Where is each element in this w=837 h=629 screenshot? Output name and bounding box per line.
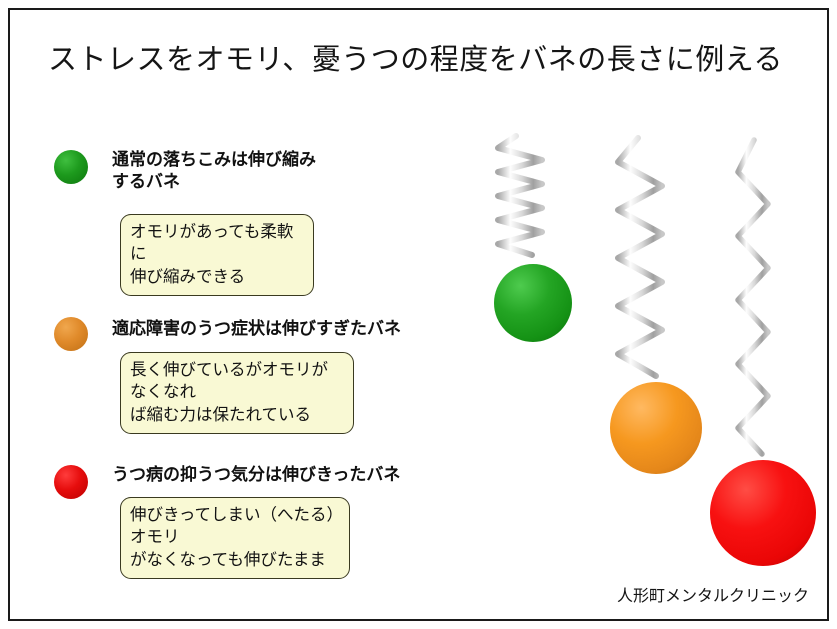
bullet-dot-orange [54, 317, 88, 351]
weight-ball-red [710, 460, 816, 566]
slide-canvas: ストレスをオモリ、憂うつの程度をバネの長さに例える 通常の落ちこみは伸び縮み す… [8, 8, 829, 621]
item-major-depression: うつ病の抑うつ気分は伸びきったバネ 伸びきってしまい（へたる）オモリ がなくなっ… [10, 10, 480, 150]
spring-group-green [480, 114, 590, 314]
item-heading: 通常の落ちこみは伸び縮み するバネ [112, 149, 412, 194]
weight-ball-orange [610, 382, 702, 474]
item-heading: 適応障害のうつ症状は伸びすぎたバネ [112, 318, 452, 340]
item-callout: オモリがあっても柔軟に 伸び縮みできる [120, 214, 314, 296]
spring-group-red [710, 114, 830, 579]
item-callout: 伸びきってしまい（へたる）オモリ がなくなっても伸びたまま [120, 497, 350, 579]
item-callout: 長く伸びているがオモリがなくなれ ば縮む力は保たれている [120, 352, 354, 434]
clinic-name-footer: 人形町メンタルクリニック [617, 582, 809, 606]
bullet-dot-red [54, 465, 88, 499]
weight-ball-green [494, 264, 572, 342]
bullet-dot-green [54, 150, 88, 184]
spring-group-orange [598, 114, 718, 474]
item-heading: うつ病の抑うつ気分は伸びきったバネ [112, 464, 452, 486]
